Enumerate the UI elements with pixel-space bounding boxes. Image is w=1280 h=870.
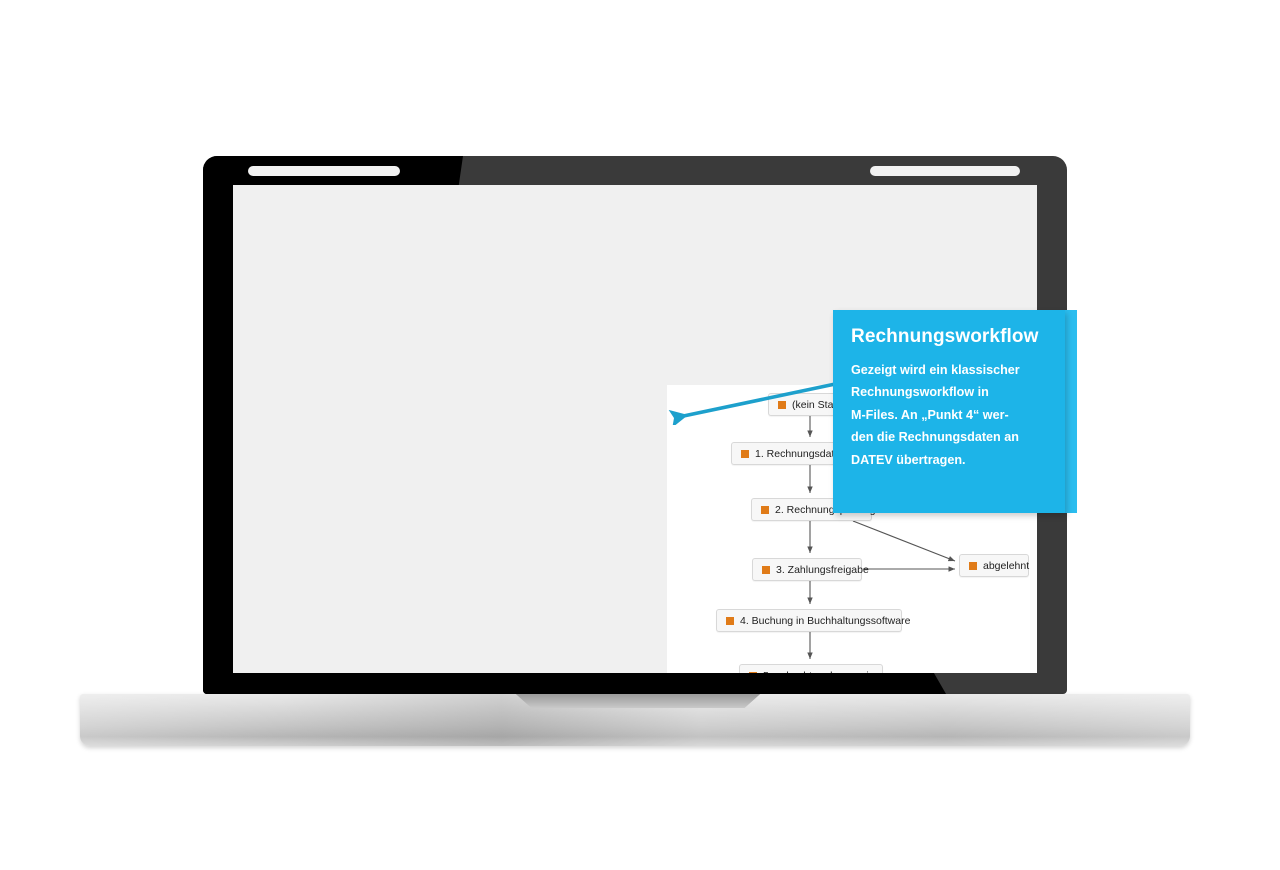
workflow-node-schritt-3[interactable]: 3. Zahlungsfreigabe (752, 558, 862, 581)
workflow-node-schritt-5[interactable]: 5. gebucht und angewiesen (739, 664, 883, 673)
callout-body: Gezeigt wird ein klassischer Rechnungswo… (851, 359, 1047, 471)
bezel-highlight-right (870, 166, 1020, 176)
node-label: abgelehnt (983, 560, 1029, 572)
callout-line-3: M-Files. An „Punkt 4“ wer- (851, 404, 1047, 426)
callout-emphasis: Punkt 4 (928, 408, 974, 422)
node-label: 5. gebucht und angewiesen (763, 670, 891, 674)
orange-square-icon (726, 617, 734, 625)
callout-pointer-arrow (660, 380, 845, 425)
laptop-trackpad-notch (508, 694, 768, 708)
callout-line-4: den die Rechnungsdaten an (851, 426, 1047, 448)
orange-square-icon (761, 506, 769, 514)
callout-edge-strip (1065, 310, 1077, 513)
callout-title: Rechnungsworkflow (851, 326, 1047, 348)
workflow-node-abgelehnt[interactable]: abgelehnt (959, 554, 1029, 577)
orange-square-icon (969, 562, 977, 570)
bezel-highlight-left (248, 166, 400, 176)
workflow-node-schritt-4[interactable]: 4. Buchung in Buchhaltungssoftware (716, 609, 902, 632)
orange-square-icon (762, 566, 770, 574)
orange-square-icon (749, 672, 757, 674)
node-label: 3. Zahlungsfreigabe (776, 564, 869, 576)
callout-panel: Rechnungsworkflow Gezeigt wird ein klass… (833, 310, 1065, 513)
orange-square-icon (741, 450, 749, 458)
callout-line-3-post: “ wer- (973, 408, 1009, 422)
laptop-mockup: (kein Status) 1. Rechnungsdaten einpfleg… (0, 0, 1280, 870)
callout-line-1: Gezeigt wird ein klassischer (851, 359, 1047, 381)
callout-line-3-pre: M-Files. An „ (851, 408, 928, 422)
callout-line-5: DATEV übertragen. (851, 449, 1047, 471)
node-label: 4. Buchung in Buchhaltungssoftware (740, 615, 910, 627)
callout-line-2: Rechnungsworkflow in (851, 381, 1047, 403)
